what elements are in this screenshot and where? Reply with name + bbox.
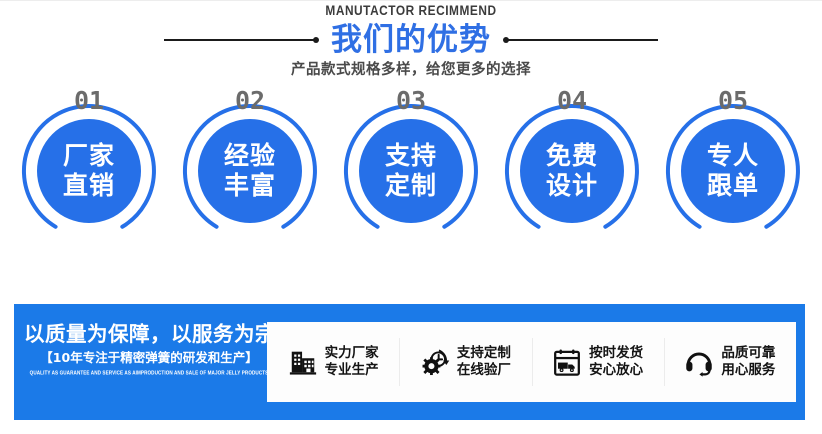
advantage-label-5a: 专人 <box>707 141 759 171</box>
advantage-item-4[interactable]: 免费 设计 04 <box>496 88 648 268</box>
advantage-item-3[interactable]: 支持 定制 03 <box>335 88 487 268</box>
advantage-item-5[interactable]: 专人 跟单 05 <box>657 88 809 268</box>
advantage-badge-3: 支持 定制 <box>359 119 463 223</box>
advantage-number-4: 04 <box>496 88 648 114</box>
title-row: 我们的优势 <box>0 22 822 58</box>
feature-line-2a: 支持定制 <box>457 345 511 362</box>
feature-line-2b: 在线验厂 <box>457 362 511 379</box>
header-subtitle: 产品款式规格多样，给您更多的选择 <box>0 58 822 79</box>
advantage-label-1a: 厂家 <box>63 141 115 171</box>
feature-line-1a: 实力厂家 <box>325 345 379 362</box>
feature-line-4b: 用心服务 <box>721 362 775 379</box>
advantage-ring-3: 支持 定制 <box>342 102 480 240</box>
advantage-ring-1: 厂家 直销 <box>20 102 158 240</box>
advantage-label-3a: 支持 <box>385 141 437 171</box>
banner-english-text: QUALITY AS GUARANTEE AND SERVICE AS AIMP… <box>24 368 274 378</box>
banner-slogan-block: 以质量为保障，以服务为宗旨 【10年专注于精密弹簧的研发和生产】 QUALITY… <box>24 322 274 377</box>
advantage-label-4a: 免费 <box>546 141 598 171</box>
feature-line-1b: 专业生产 <box>325 362 379 379</box>
header-eyebrow: MANUTACTOR RECIMMEND <box>49 3 772 18</box>
advantage-number-1: 01 <box>13 88 165 114</box>
advantage-badge-5: 专人 跟单 <box>681 119 785 223</box>
feature-text-2: 支持定制 在线验厂 <box>457 345 511 379</box>
feature-line-3b: 安心放心 <box>589 362 643 379</box>
title-rule-right <box>506 39 658 41</box>
advantage-label-5b: 跟单 <box>707 171 759 201</box>
title-rule-left <box>164 39 316 41</box>
promo-banner-page: MANUTACTOR RECIMMEND 我们的优势 产品款式规格多样，给您更多… <box>0 0 822 434</box>
advantage-badge-1: 厂家 直销 <box>37 119 141 223</box>
feature-text-4: 品质可靠 用心服务 <box>721 345 775 379</box>
feature-item-2[interactable]: 支持定制 在线验厂 <box>399 332 531 392</box>
headset-icon <box>684 347 714 377</box>
title-dot-right-icon <box>503 37 509 43</box>
advantage-label-1b: 直销 <box>63 171 115 201</box>
advantage-badge-4: 免费 设计 <box>520 119 624 223</box>
page-title: 我们的优势 <box>321 23 501 57</box>
advantage-ring-5: 专人 跟单 <box>664 102 802 240</box>
advantage-label-2a: 经验 <box>224 141 276 171</box>
feature-line-4a: 品质可靠 <box>721 345 775 362</box>
advantage-item-2[interactable]: 经验 丰富 02 <box>174 88 326 268</box>
advantage-ring-2: 经验 丰富 <box>181 102 319 240</box>
feature-text-1: 实力厂家 专业生产 <box>325 345 379 379</box>
banner-slogan: 以质量为保障，以服务为宗旨 <box>24 322 274 347</box>
advantages-list: 厂家 直销 01 经验 丰富 02 <box>0 88 822 270</box>
title-dot-left-icon <box>313 37 319 43</box>
advantage-number-3: 03 <box>335 88 487 114</box>
advantage-number-5: 05 <box>657 88 809 114</box>
feature-item-1[interactable]: 实力厂家 专业生产 <box>267 332 399 392</box>
gear-icon <box>420 347 450 377</box>
banner-sub-slogan: 【10年专注于精密弹簧的研发和生产】 <box>24 349 274 366</box>
advantage-ring-4: 免费 设计 <box>503 102 641 240</box>
advantage-label-3b: 定制 <box>385 171 437 201</box>
building-icon <box>288 347 318 377</box>
feature-line-3a: 按时发货 <box>589 345 643 362</box>
bottom-banner: 以质量为保障，以服务为宗旨 【10年专注于精密弹簧的研发和生产】 QUALITY… <box>14 304 805 420</box>
advantage-label-2b: 丰富 <box>224 171 276 201</box>
calendar-truck-icon <box>552 347 582 377</box>
feature-item-4[interactable]: 品质可靠 用心服务 <box>664 332 796 392</box>
advantage-badge-2: 经验 丰富 <box>198 119 302 223</box>
feature-item-3[interactable]: 按时发货 安心放心 <box>532 332 664 392</box>
header-section: MANUTACTOR RECIMMEND 我们的优势 产品款式规格多样，给您更多… <box>0 0 822 88</box>
feature-box: 实力厂家 专业生产 <box>267 322 796 402</box>
advantage-number-2: 02 <box>174 88 326 114</box>
feature-text-3: 按时发货 安心放心 <box>589 345 643 379</box>
advantage-item-1[interactable]: 厂家 直销 01 <box>13 88 165 268</box>
advantage-label-4b: 设计 <box>546 171 598 201</box>
